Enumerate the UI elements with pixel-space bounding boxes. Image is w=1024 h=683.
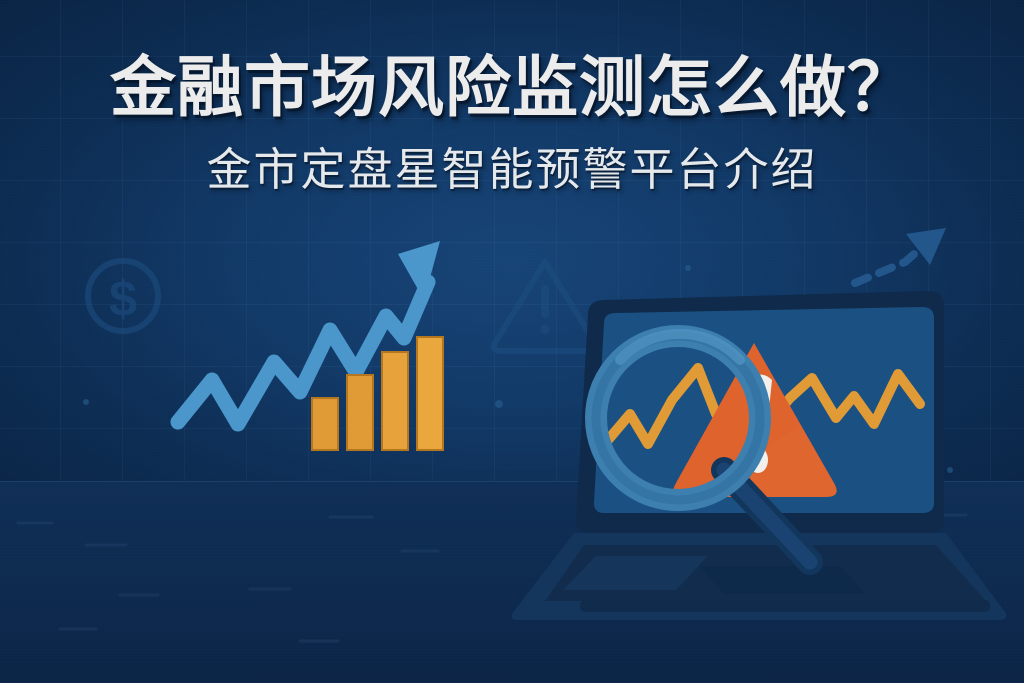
- page-title: 金融市场风险监测怎么做？: [0, 52, 1024, 123]
- title-block: 金融市场风险监测怎么做？ 金市定盘星智能预警平台介绍: [0, 52, 1024, 195]
- poster-canvas: $: [0, 0, 1024, 683]
- page-subtitle: 金市定盘星智能预警平台介绍: [0, 145, 1024, 195]
